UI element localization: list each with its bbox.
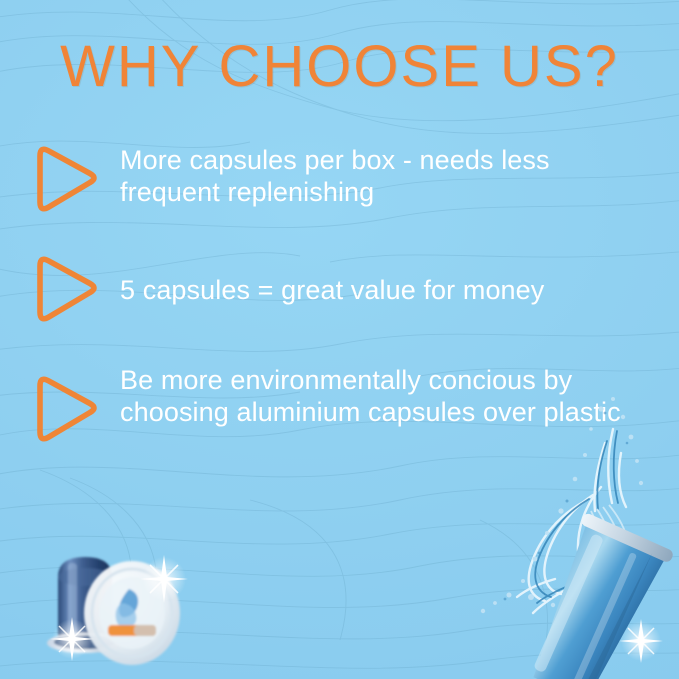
water-splash-capsule-photo <box>435 383 679 679</box>
page-title: WHY CHOOSE US? <box>0 36 679 98</box>
triangle-play-outline-icon <box>28 142 108 216</box>
list-item: 5 capsules = great value for money <box>28 252 652 326</box>
list-item-label: 5 capsules = great value for money <box>120 252 544 306</box>
promo-poster: WHY CHOOSE US? More capsules per box - n… <box>0 0 679 679</box>
list-item: More capsules per box - needs less frequ… <box>28 140 652 216</box>
triangle-play-outline-icon <box>28 252 108 326</box>
coffee-capsules-photo <box>30 521 220 671</box>
list-item-label: More capsules per box - needs less frequ… <box>120 140 652 208</box>
triangle-play-outline-icon <box>28 372 108 446</box>
